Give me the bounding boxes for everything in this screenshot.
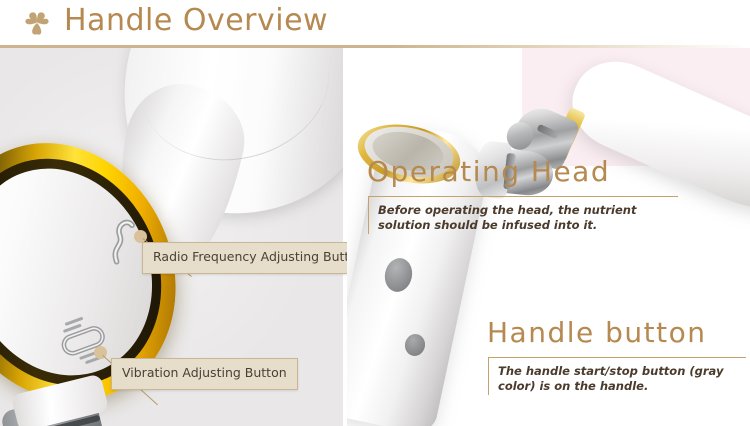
page-header: Handle Overview bbox=[0, 0, 750, 46]
handle-button-description: The handle start/stop button (gray color… bbox=[488, 357, 746, 395]
right-content-panel: Operating Head Before operating the head… bbox=[347, 48, 750, 426]
flower-icon bbox=[22, 8, 52, 38]
callout-label-vibration[interactable]: Vibration Adjusting Button bbox=[111, 358, 298, 390]
operating-head-description: Before operating the head, the nutrient … bbox=[368, 196, 678, 234]
handle-overview-infographic: Handle Overview bbox=[0, 0, 750, 426]
page-title: Handle Overview bbox=[64, 3, 328, 38]
callout-label-radio-frequency[interactable]: Radio Frequency Adjusting Button bbox=[142, 242, 376, 274]
operating-head-heading: Operating Head bbox=[367, 155, 610, 188]
handle-button-heading: Handle button bbox=[487, 316, 707, 349]
